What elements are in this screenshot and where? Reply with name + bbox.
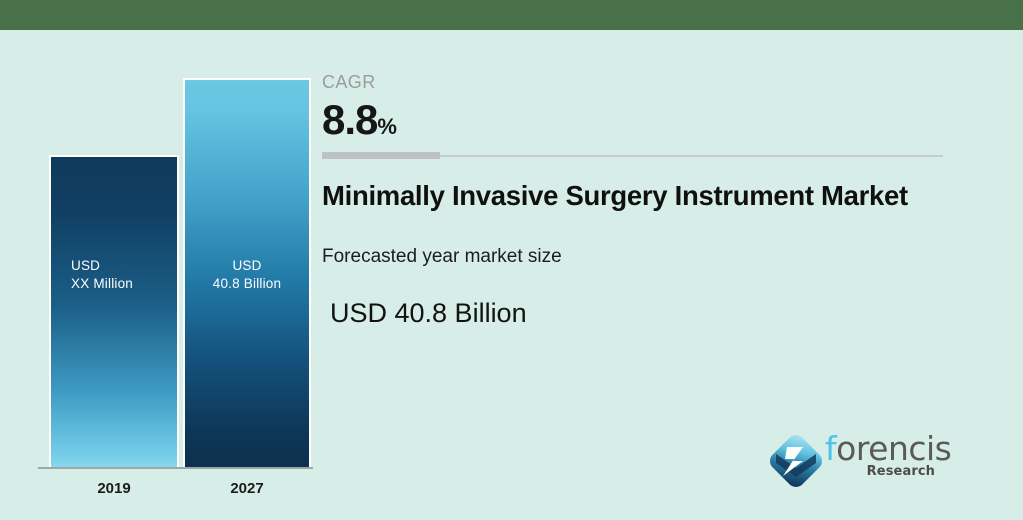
cagr-percent-sign: % [377,114,397,139]
x-tick-2027: 2027 [183,480,311,497]
bar-2019-label-line2: XX Million [71,275,133,293]
forencis-wordmark: forencis Research [825,426,937,492]
logo-subtitle: Research [867,464,935,479]
divider [322,152,943,160]
logo-word-accent: f [825,429,836,468]
top-green-band [0,0,1023,30]
forecast-value: USD 40.8 Billion [330,298,527,329]
cagr-value: 8.8% [322,96,397,144]
infographic-canvas: USD XX Million USD 40.8 Billion 2019 202… [0,0,1023,520]
divider-thick-segment [322,152,440,159]
bar-2027-label-line1: USD [185,257,309,275]
forencis-research-logo: forencis Research [763,426,935,498]
bar-chart: USD XX Million USD 40.8 Billion 2019 202… [0,30,330,520]
bar-2027: USD 40.8 Billion [183,78,311,467]
page-title: Minimally Invasive Surgery Instrument Ma… [322,180,908,212]
bar-2027-label-line2: 40.8 Billion [185,275,309,293]
cagr-number: 8.8 [322,96,377,143]
forencis-diamond-icon [763,428,829,494]
logo-word: forencis [825,432,951,466]
logo-word-rest: orencis [836,429,951,468]
subtitle: Forecasted year market size [322,246,562,268]
bar-2019: USD XX Million [49,155,179,467]
x-tick-2019: 2019 [49,480,179,497]
cagr-label: CAGR [322,72,376,93]
x-axis-line [38,467,313,469]
bar-2027-label: USD 40.8 Billion [185,257,309,293]
bar-2019-label: USD XX Million [71,257,133,293]
bar-2019-label-line1: USD [71,257,133,275]
